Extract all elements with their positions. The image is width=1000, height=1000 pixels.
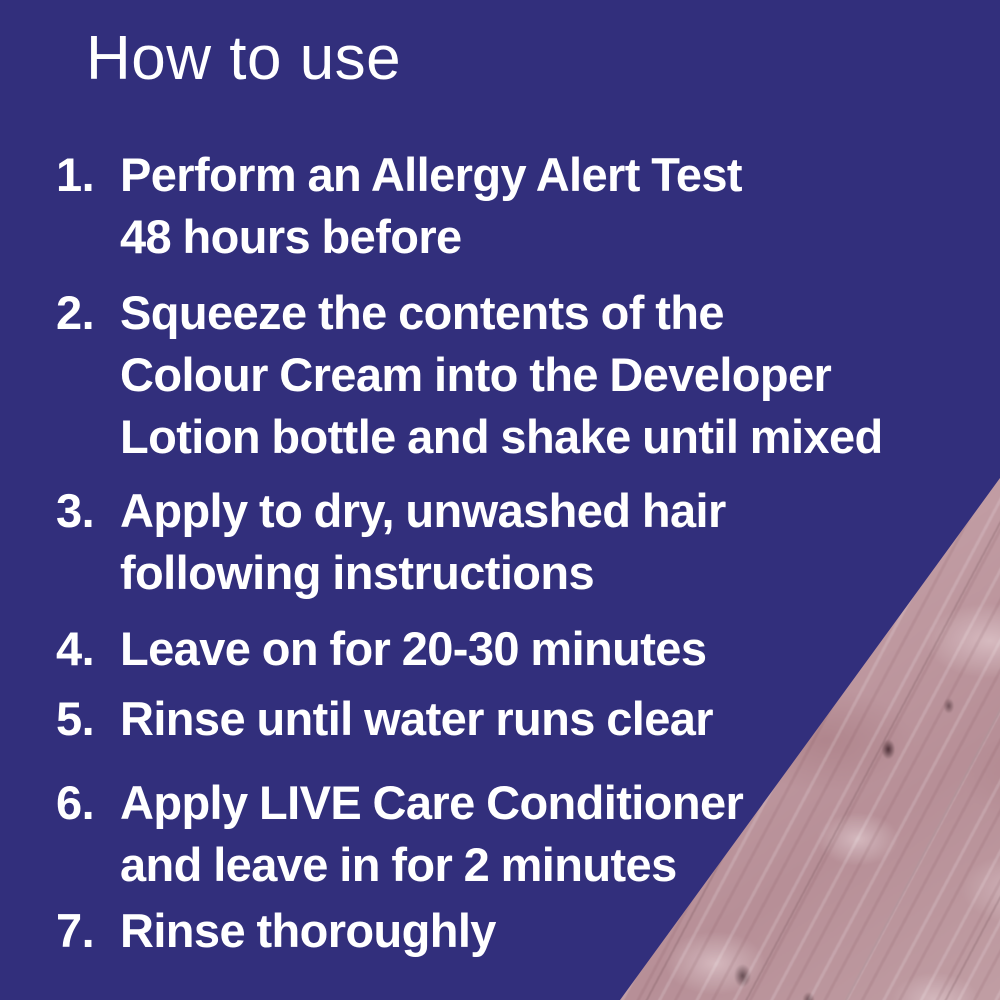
list-item: 2. Squeeze the contents of the Colour Cr…: [56, 282, 936, 468]
step-number: 1.: [56, 144, 120, 206]
list-item: 3. Apply to dry, unwashed hair following…: [56, 480, 936, 604]
step-number: 2.: [56, 282, 120, 344]
step-text-line: Apply LIVE Care Conditioner: [120, 772, 936, 834]
list-item: 4. Leave on for 20-30 minutes: [56, 618, 936, 680]
page-title: How to use: [86, 28, 401, 90]
step-text: Rinse thoroughly: [120, 900, 936, 962]
step-text-line: and leave in for 2 minutes: [120, 834, 936, 896]
list-item: 1. Perform an Allergy Alert Test 48 hour…: [56, 144, 936, 268]
step-text-line: Leave on for 20-30 minutes: [120, 618, 936, 680]
how-to-use-poster: How to use 1. Perform an Allergy Alert T…: [0, 0, 1000, 1000]
step-text-line: following instructions: [120, 542, 936, 604]
step-text-line: Rinse until water runs clear: [120, 688, 936, 750]
step-number: 6.: [56, 772, 120, 834]
step-text: Apply to dry, unwashed hair following in…: [120, 480, 936, 604]
instruction-steps-list: 1. Perform an Allergy Alert Test 48 hour…: [56, 144, 936, 962]
step-text-line: 48 hours before: [120, 206, 936, 268]
step-number: 3.: [56, 480, 120, 542]
step-number: 4.: [56, 618, 120, 680]
step-text: Apply LIVE Care Conditioner and leave in…: [120, 772, 936, 896]
step-text: Squeeze the contents of the Colour Cream…: [120, 282, 936, 468]
step-text-line: Lotion bottle and shake until mixed: [120, 406, 936, 468]
list-item: 5. Rinse until water runs clear: [56, 688, 936, 750]
step-number: 7.: [56, 900, 120, 962]
step-text-line: Rinse thoroughly: [120, 900, 936, 962]
list-item: 7. Rinse thoroughly: [56, 900, 936, 962]
step-text-line: Squeeze the contents of the: [120, 282, 936, 344]
step-text: Rinse until water runs clear: [120, 688, 936, 750]
step-text-line: Apply to dry, unwashed hair: [120, 480, 936, 542]
step-text-line: Colour Cream into the Developer: [120, 344, 936, 406]
step-text: Perform an Allergy Alert Test 48 hours b…: [120, 144, 936, 268]
list-item: 6. Apply LIVE Care Conditioner and leave…: [56, 772, 936, 896]
step-number: 5.: [56, 688, 120, 750]
step-text-line: Perform an Allergy Alert Test: [120, 144, 936, 206]
step-text: Leave on for 20-30 minutes: [120, 618, 936, 680]
